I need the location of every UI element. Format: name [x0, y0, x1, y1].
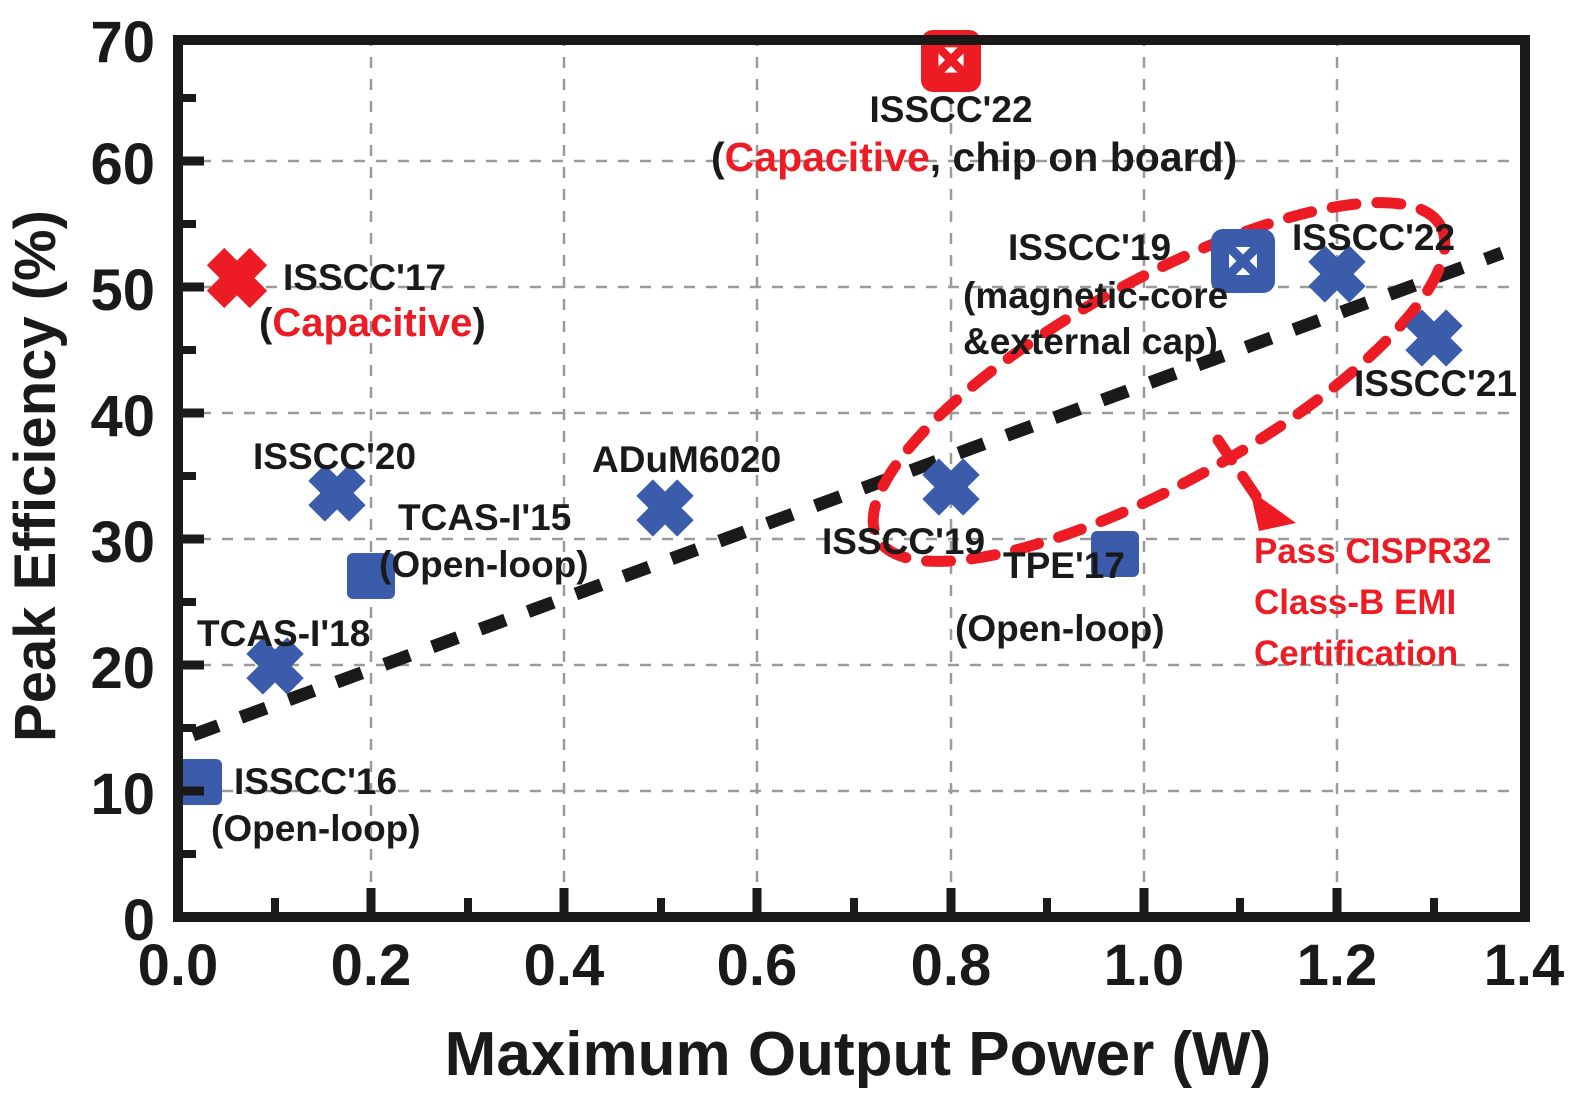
label-isscc-16-line2: (Open-loop) — [211, 808, 421, 849]
label-isscc-20: ISSCC'20 — [253, 436, 416, 477]
label-isscc-16-line1: ISSCC'16 — [234, 761, 397, 802]
label-tpe-17-line1: TPE'17 — [1003, 545, 1125, 586]
label-isscc-22-capacitive-line1: ISSCC'22 — [869, 89, 1032, 130]
label-tpe-17-line2: (Open-loop) — [955, 608, 1165, 649]
paren-close: ) — [472, 301, 485, 345]
y-tick-60: 60 — [90, 132, 155, 197]
label-isscc-17-capacitive: (Capacitive) — [259, 301, 486, 345]
label-isscc-22-capacitive-line2: (Capacitive, chip on board) — [711, 134, 1237, 180]
capacitive-word-2: Capacitive — [725, 134, 930, 180]
label-isscc-19-mag-line1: ISSCC'19 — [1008, 227, 1171, 268]
x-tick-0.0: 0.0 — [138, 933, 219, 998]
label-isscc-21: ISSCC'21 — [1354, 363, 1517, 404]
x-tick-0.8: 0.8 — [911, 933, 992, 998]
scatter-plot-svg: 0 10 20 30 40 50 60 70 0.0 0.2 0.4 0.6 0… — [0, 0, 1575, 1113]
y-tick-50: 50 — [90, 258, 155, 323]
label-emi-line1: Pass CISPR32 — [1254, 532, 1491, 571]
label-isscc-19: ISSCC'19 — [822, 521, 985, 562]
label-isscc-22: ISSCC'22 — [1292, 217, 1455, 258]
label-isscc-19-mag-line2: (magnetic-core — [963, 275, 1228, 316]
x-tick-0.6: 0.6 — [717, 933, 798, 998]
x-axis-title: Maximum Output Power (W) — [445, 1020, 1272, 1089]
x-tick-labels: 0.0 0.2 0.4 0.6 0.8 1.0 1.2 1.4 — [138, 933, 1565, 998]
y-tick-10: 10 — [90, 762, 155, 827]
y-tick-30: 30 — [90, 510, 155, 575]
chip-on-board-text: , chip on board) — [930, 134, 1237, 180]
x-tick-1.0: 1.0 — [1104, 933, 1185, 998]
paren-open: ( — [259, 301, 273, 345]
x-tick-0.4: 0.4 — [524, 933, 605, 998]
label-tcas-i-15-line2: (Open-loop) — [379, 544, 589, 585]
label-isscc-17: ISSCC'17 — [283, 257, 446, 298]
x-tick-1.2: 1.2 — [1297, 933, 1378, 998]
chart-figure: 0 10 20 30 40 50 60 70 0.0 0.2 0.4 0.6 0… — [0, 0, 1575, 1113]
y-tick-labels: 0 10 20 30 40 50 60 70 — [90, 10, 155, 953]
label-emi-line2: Class-B EMI — [1254, 583, 1456, 622]
y-tick-70: 70 — [90, 10, 155, 75]
x-tick-0.2: 0.2 — [331, 933, 412, 998]
label-tcas-i-15-line1: TCAS-I'15 — [398, 497, 571, 538]
y-axis-title: Peak Efficiency (%) — [3, 210, 68, 742]
y-tick-40: 40 — [90, 384, 155, 449]
paren-open-2: ( — [711, 134, 725, 180]
label-adum6020: ADuM6020 — [592, 439, 781, 480]
label-isscc-19-mag-line3: &external cap) — [963, 321, 1218, 362]
label-emi-line3: Certification — [1254, 634, 1458, 673]
capacitive-word: Capacitive — [272, 301, 472, 345]
x-tick-1.4: 1.4 — [1484, 933, 1565, 998]
y-tick-20: 20 — [90, 636, 155, 701]
label-tcas-i-18: TCAS-I'18 — [197, 613, 370, 654]
